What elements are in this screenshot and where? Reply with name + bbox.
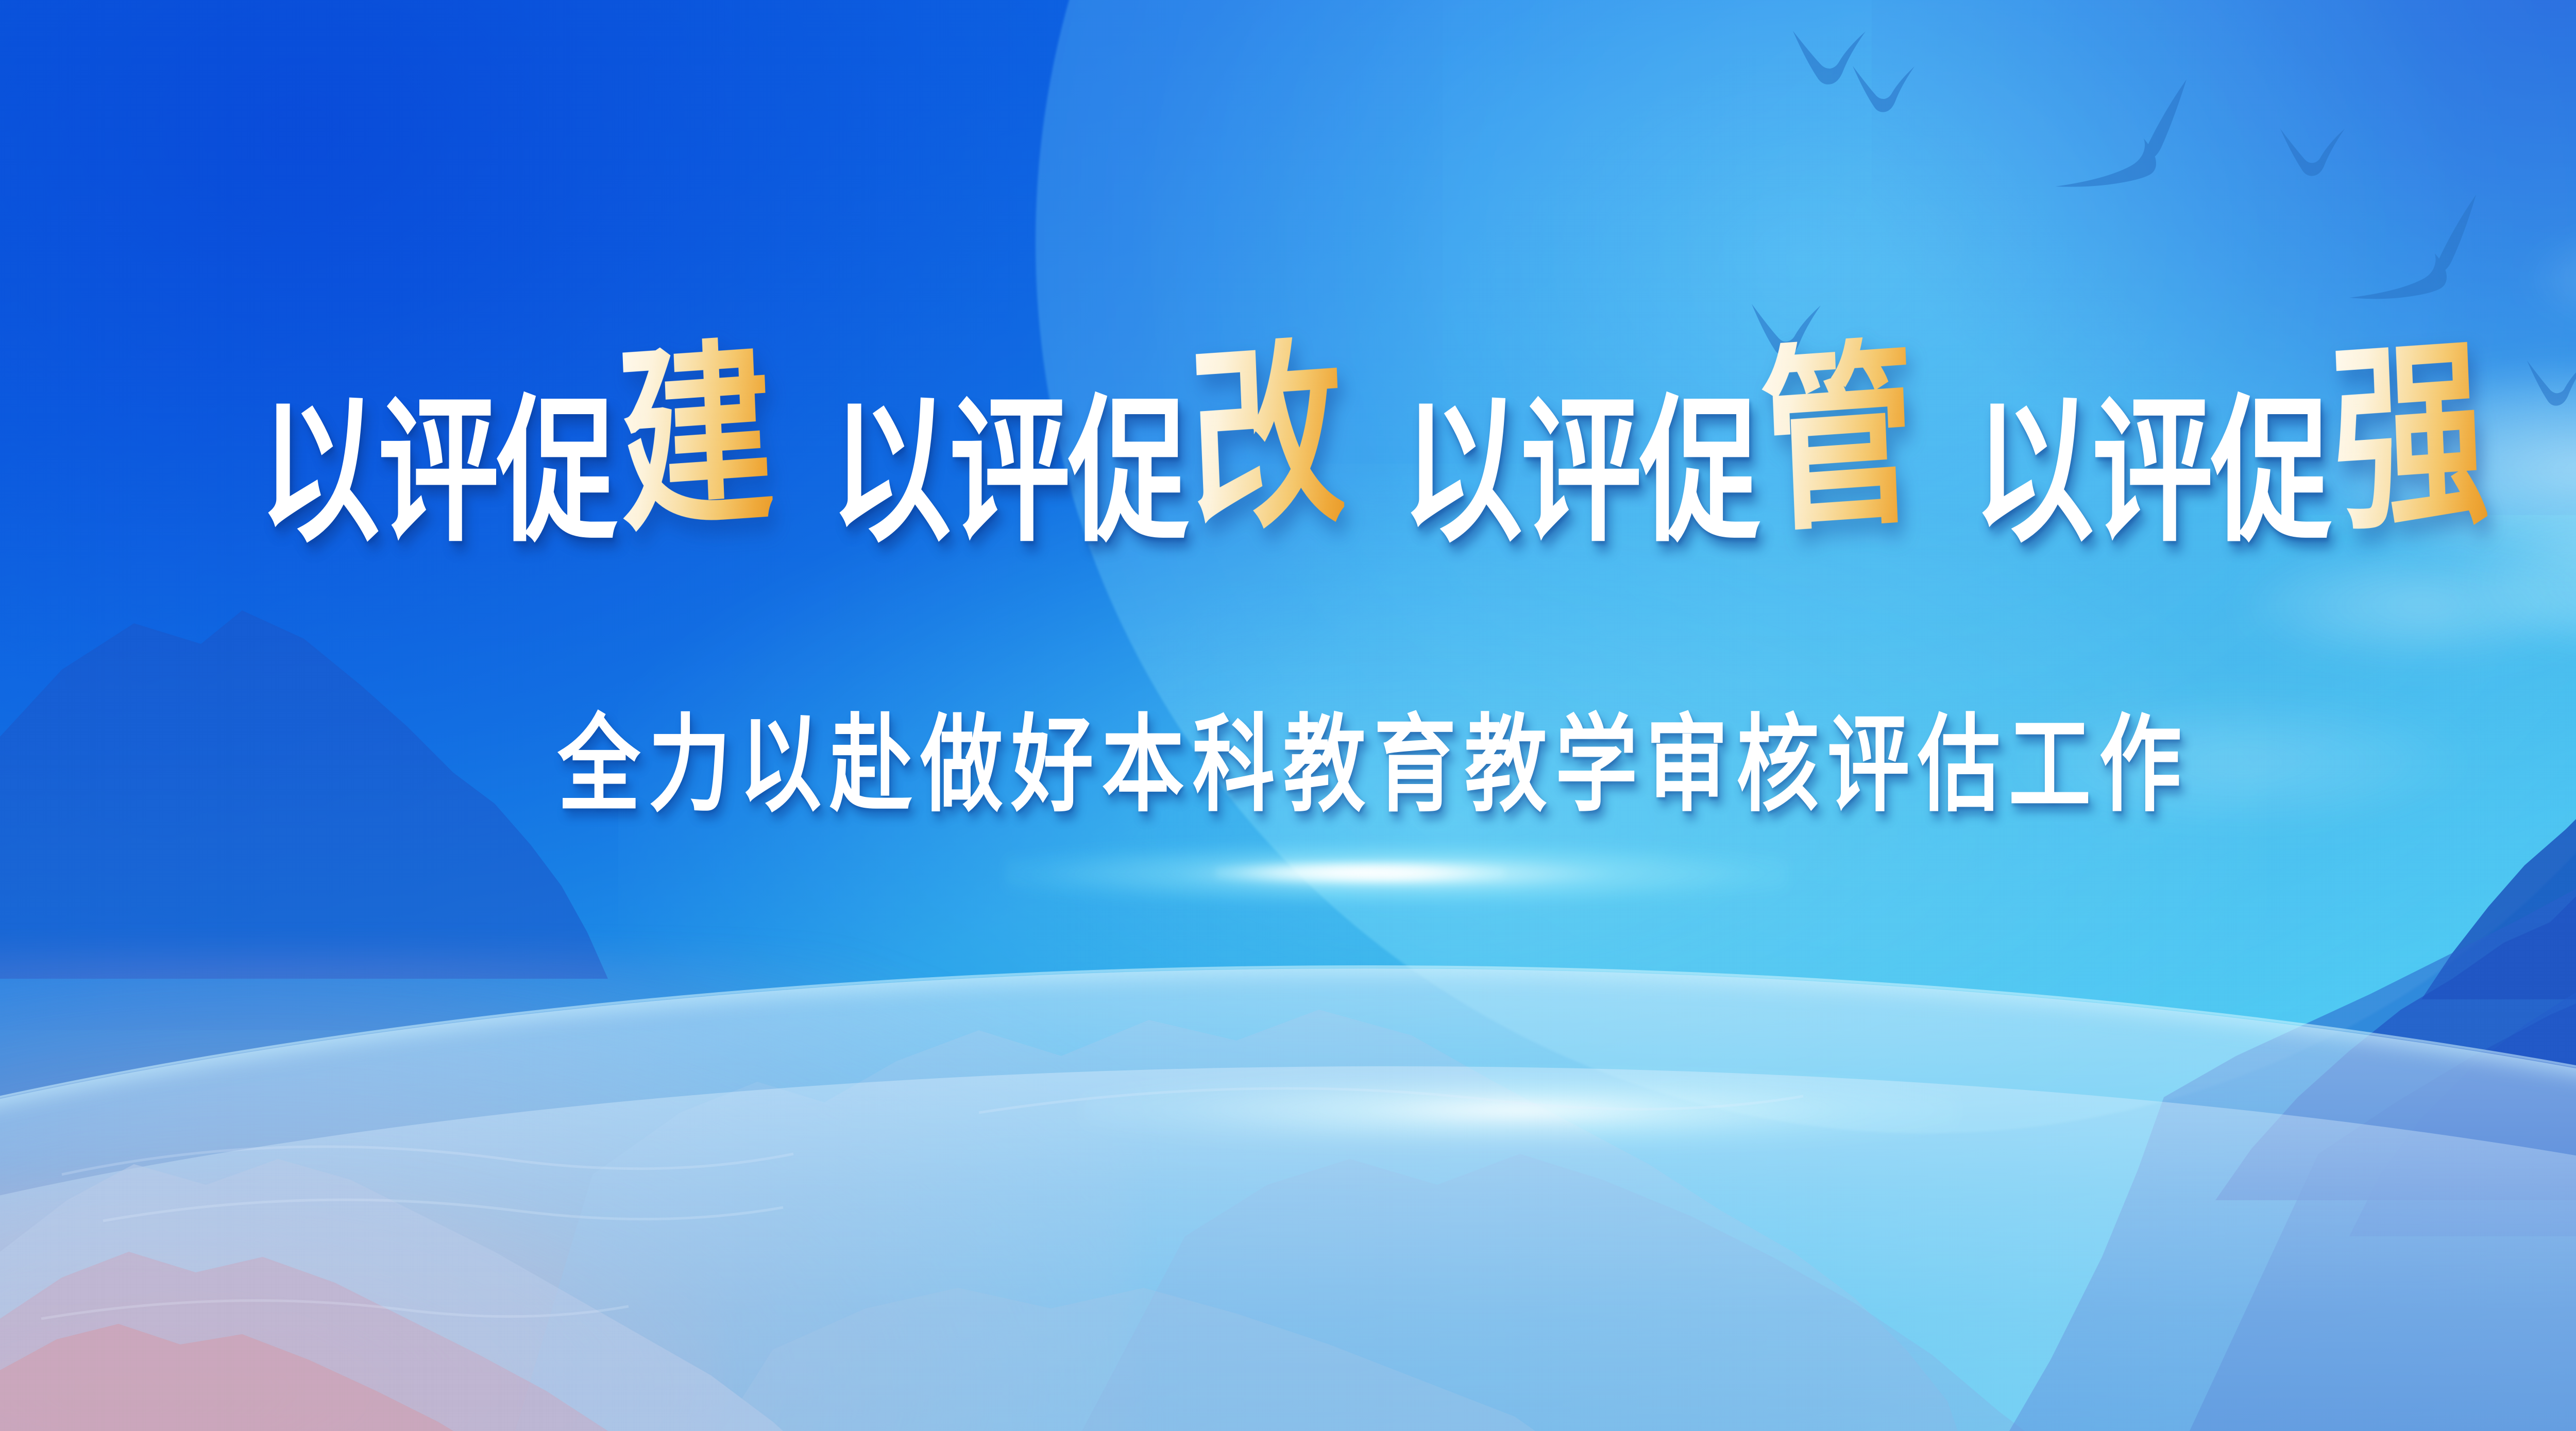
slogan-phrase-2: 以评促 改 <box>831 403 1346 557</box>
promotional-banner: 以评促 建 以评促 改 以评促 管 以评促 强 全力以赴做好本科教育教学审核评估… <box>0 0 2576 1431</box>
slogan-phrase-1: 以评促 建 <box>259 403 775 557</box>
slogan-phrase-4: 以评促 强 <box>1973 403 2489 557</box>
main-title-row: 以评促 建 以评促 改 以评促 管 以评促 强 <box>0 403 2576 568</box>
lens-flare-core <box>1216 861 1504 884</box>
slogan-prefix-2: 以评促 <box>831 395 1188 553</box>
slogan-accent-1: 建 <box>615 334 774 545</box>
banner-subtitle: 全力以赴做好本科教育教学审核评估工作 <box>0 713 2576 819</box>
slogan-prefix-3: 以评促 <box>1402 395 1759 553</box>
slogan-accent-3: 管 <box>1757 334 1917 545</box>
slogan-phrase-3: 以评促 管 <box>1402 403 1918 557</box>
slogan-accent-4: 强 <box>2329 334 2488 545</box>
slogan-accent-2: 改 <box>1186 334 1345 545</box>
slogan-prefix-1: 以评促 <box>259 395 616 553</box>
slogan-prefix-4: 以评促 <box>1973 395 2330 553</box>
